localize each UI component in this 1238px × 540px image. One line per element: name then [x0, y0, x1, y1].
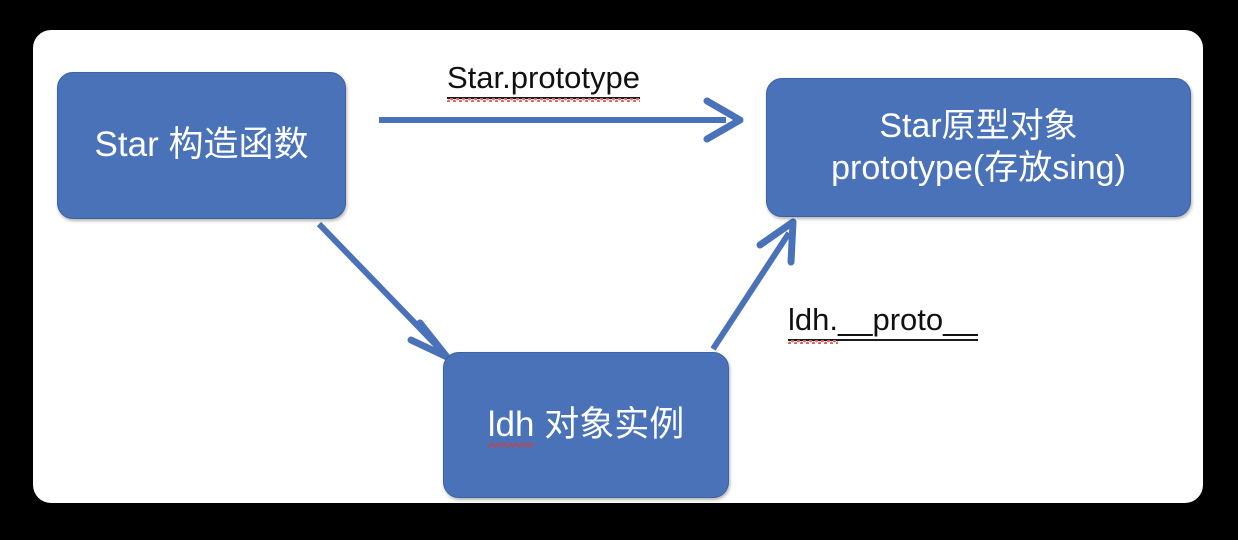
node-ldh-instance-suffix: 对象实例: [534, 405, 684, 444]
edge-label-ldh-proto-prefix: ldh.: [788, 302, 838, 341]
node-star-prototype-line2: prototype(存放sing): [831, 149, 1126, 187]
node-star-constructor[interactable]: Star 构造函数: [57, 72, 346, 219]
node-star-prototype-line1: Star原型对象: [879, 107, 1077, 145]
edge-label-ldh-proto-suffix: __proto__: [838, 302, 978, 341]
node-ldh-instance[interactable]: ldh 对象实例: [443, 352, 729, 498]
node-ldh-instance-label: ldh 对象实例: [488, 404, 684, 447]
node-star-prototype[interactable]: Star原型对象prototype(存放sing): [766, 78, 1191, 217]
edge-label-star-prototype-text: Star.prototype: [447, 60, 640, 99]
node-star-constructor-label: Star 构造函数: [95, 124, 309, 167]
node-ldh-instance-token: ldh: [488, 404, 535, 447]
edge-label-ldh-proto: ldh.__proto__: [788, 302, 978, 341]
diagram-stage: Star 构造函数 Star原型对象prototype(存放sing) ldh …: [0, 0, 1238, 540]
edge-label-star-prototype: Star.prototype: [447, 60, 640, 99]
node-star-prototype-label: Star原型对象prototype(存放sing): [831, 106, 1126, 189]
